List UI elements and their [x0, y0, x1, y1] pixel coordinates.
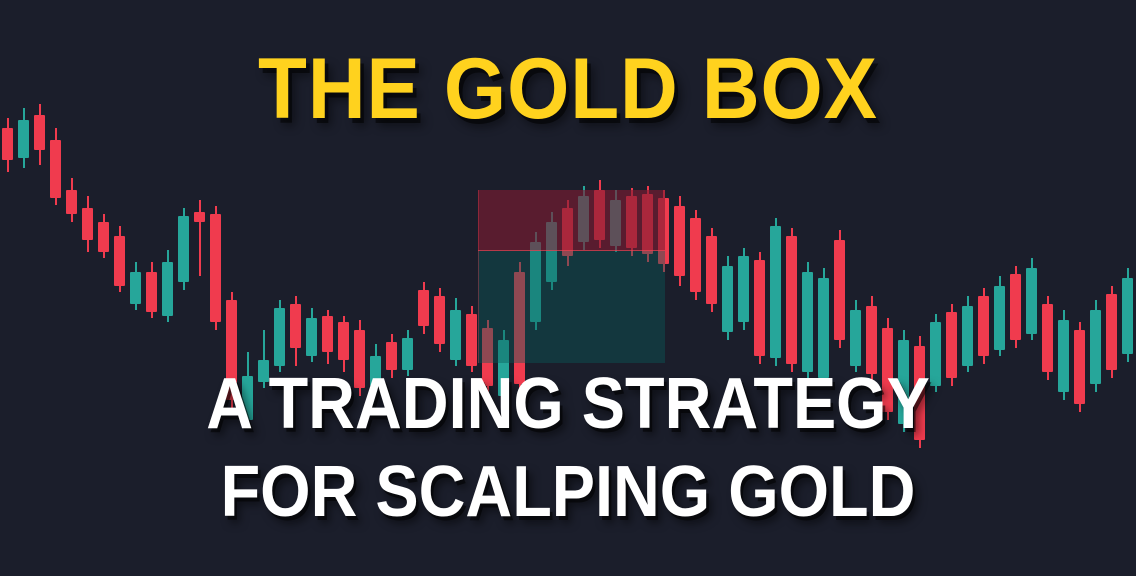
subtitle-line-2: FOR SCALPING GOLD: [57, 456, 1079, 528]
text-overlay: THE GOLD BOX A TRADING STRATEGY FOR SCAL…: [0, 0, 1136, 576]
thumbnail-canvas: THE GOLD BOX A TRADING STRATEGY FOR SCAL…: [0, 0, 1136, 576]
subtitle-line-1: A TRADING STRATEGY: [57, 368, 1079, 440]
page-title: THE GOLD BOX: [40, 46, 1096, 132]
